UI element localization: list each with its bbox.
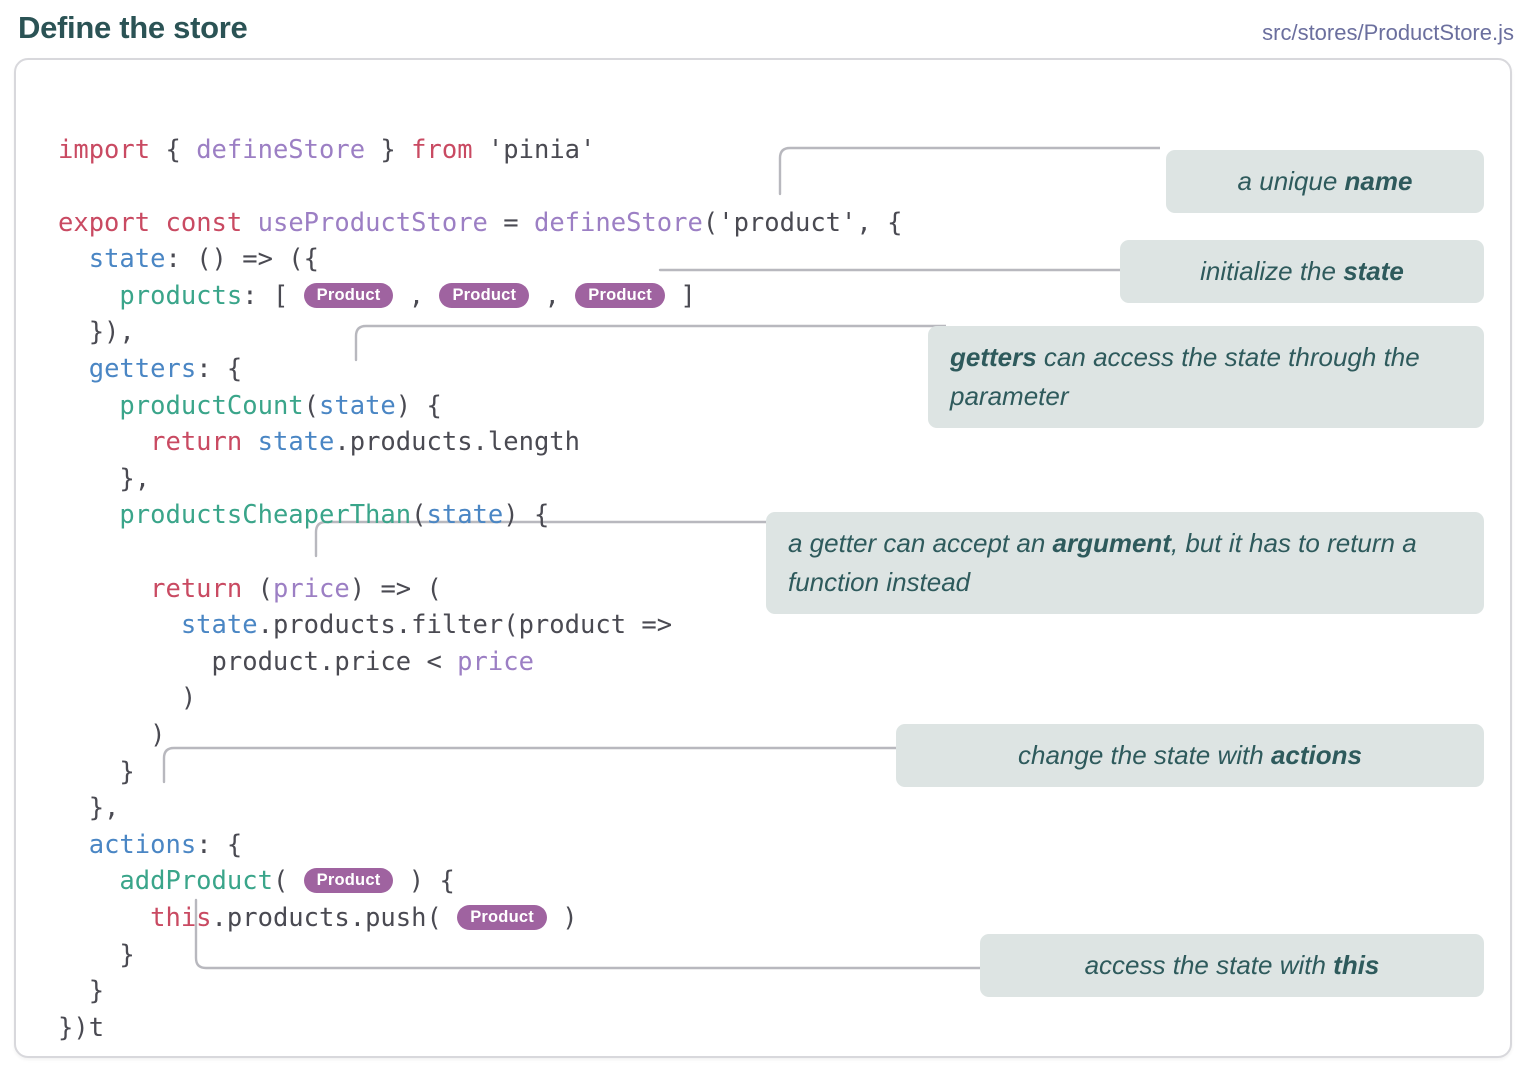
code-token	[58, 244, 89, 274]
code-line: getters: {	[58, 351, 902, 388]
code-token: this	[150, 903, 211, 933]
code-line: )	[58, 717, 902, 754]
code-line: products: [ Product , Product , Product …	[58, 278, 902, 315]
code-token	[58, 391, 119, 421]
annotation-text: initialize the	[1200, 256, 1343, 286]
code-token: price	[273, 574, 350, 604]
code-token: ) {	[396, 391, 442, 421]
annotation-unique-name: a unique name	[1166, 150, 1484, 213]
code-token: ) {	[503, 500, 549, 530]
code-token: : () => ({	[165, 244, 319, 274]
code-token: ,	[393, 281, 439, 311]
code-token: export	[58, 208, 150, 238]
code-token: },	[58, 793, 119, 823]
annotation-emphasis: state	[1343, 256, 1404, 286]
code-token: })t	[58, 1013, 104, 1043]
code-token: ) {	[393, 866, 454, 896]
file-path-label: src/stores/ProductStore.js	[1262, 20, 1514, 46]
code-token: : {	[196, 830, 242, 860]
annotation-emphasis: argument	[1053, 528, 1171, 558]
product-pill: Product	[439, 283, 529, 308]
page-title: Define the store	[18, 10, 247, 46]
code-token	[58, 610, 181, 640]
code-token: (	[304, 391, 319, 421]
code-token: 'pinia'	[473, 135, 596, 165]
code-token: defineStore	[196, 135, 365, 165]
code-line: addProduct( Product ) {	[58, 863, 902, 900]
annotation-change-state-with-actions: change the state with actions	[896, 724, 1484, 787]
code-token: : [	[242, 281, 303, 311]
code-line: },	[58, 461, 902, 498]
code-token: productCount	[119, 391, 303, 421]
code-token: addProduct	[119, 866, 273, 896]
code-token: defineStore	[534, 208, 703, 238]
annotation-emphasis: name	[1345, 166, 1413, 196]
annotation-text: access the state with	[1085, 950, 1334, 980]
code-line: state: () => ({	[58, 241, 902, 278]
header: Define the store src/stores/ProductStore…	[0, 8, 1528, 56]
code-line: }	[58, 754, 902, 791]
annotation-text: change the state with	[1018, 740, 1271, 770]
code-token	[58, 830, 89, 860]
code-token: (	[411, 500, 426, 530]
code-token: (	[273, 866, 304, 896]
code-token: return	[150, 427, 242, 457]
code-token: getters	[89, 354, 196, 384]
code-line: },	[58, 790, 902, 827]
code-token: ,	[529, 281, 575, 311]
code-line: }	[58, 937, 902, 974]
code-line: return state.products.length	[58, 424, 902, 461]
code-token: },	[58, 464, 150, 494]
code-token: : {	[196, 354, 242, 384]
annotation-emphasis: actions	[1271, 740, 1362, 770]
code-token: )	[58, 720, 165, 750]
code-token: .products.length	[334, 427, 580, 457]
code-token	[58, 354, 89, 384]
code-token: .products.filter(product =>	[258, 610, 673, 640]
code-token: state	[258, 427, 335, 457]
code-card: import { defineStore } from 'pinia'​expo…	[14, 58, 1512, 1058]
code-token: return	[150, 574, 242, 604]
code-line: this.products.push( Product )	[58, 900, 902, 937]
code-token: (	[242, 574, 273, 604]
code-token	[58, 903, 150, 933]
code-token: =	[488, 208, 534, 238]
code-token: ) => (	[350, 574, 442, 604]
code-token: price	[457, 647, 534, 677]
code-line: }	[58, 973, 902, 1010]
product-pill: Product	[457, 905, 547, 930]
code-token: products	[119, 281, 242, 311]
code-token: }	[58, 757, 135, 787]
annotation-access-state-with-this: access the state with this	[980, 934, 1484, 997]
code-line: import { defineStore } from 'pinia'	[58, 132, 902, 169]
code-token: state	[89, 244, 166, 274]
annotation-text: a getter can accept an	[788, 528, 1053, 558]
code-token	[242, 208, 257, 238]
code-line: productCount(state) {	[58, 388, 902, 425]
product-pill: Product	[304, 283, 394, 308]
code-token: {	[150, 135, 196, 165]
code-line: ​	[58, 168, 902, 205]
code-token	[58, 574, 150, 604]
product-pill: Product	[304, 868, 394, 893]
code-token	[58, 281, 119, 311]
code-token: ]	[665, 281, 696, 311]
annotation-emphasis: getters	[950, 342, 1037, 372]
code-token: }	[365, 135, 411, 165]
code-line: actions: {	[58, 827, 902, 864]
slide-root: Define the store src/stores/ProductStore…	[0, 0, 1528, 1070]
code-token: }	[58, 940, 135, 970]
annotation-getters-access-state: getters can access the state through the…	[928, 326, 1484, 428]
annotation-text: a unique	[1238, 166, 1345, 196]
annotation-getter-argument: a getter can accept an argument, but it …	[766, 512, 1484, 614]
code-token: state	[181, 610, 258, 640]
code-token: )	[58, 683, 196, 713]
code-token: .products.push(	[212, 903, 458, 933]
code-token: from	[411, 135, 472, 165]
code-token: }	[58, 976, 104, 1006]
code-token: useProductStore	[258, 208, 488, 238]
code-line: export const useProductStore = defineSto…	[58, 205, 902, 242]
code-token: }),	[58, 317, 135, 347]
code-token: actions	[89, 830, 196, 860]
code-token: state	[319, 391, 396, 421]
code-token: product.price <	[58, 647, 457, 677]
code-token	[58, 866, 119, 896]
annotation-emphasis: this	[1333, 950, 1379, 980]
code-line: })t	[58, 1010, 902, 1047]
code-token: state	[426, 500, 503, 530]
product-pill: Product	[575, 283, 665, 308]
code-token	[150, 208, 165, 238]
code-line: )	[58, 680, 902, 717]
code-line: }),	[58, 314, 902, 351]
code-line: product.price < price	[58, 644, 902, 681]
code-token	[242, 427, 257, 457]
code-token	[58, 500, 119, 530]
code-token	[58, 427, 150, 457]
code-token: )	[547, 903, 578, 933]
code-token: const	[165, 208, 242, 238]
annotation-initialize-state: initialize the state	[1120, 240, 1484, 303]
code-token: productsCheaperThan	[119, 500, 411, 530]
code-token: import	[58, 135, 150, 165]
code-token: ('product', {	[703, 208, 903, 238]
